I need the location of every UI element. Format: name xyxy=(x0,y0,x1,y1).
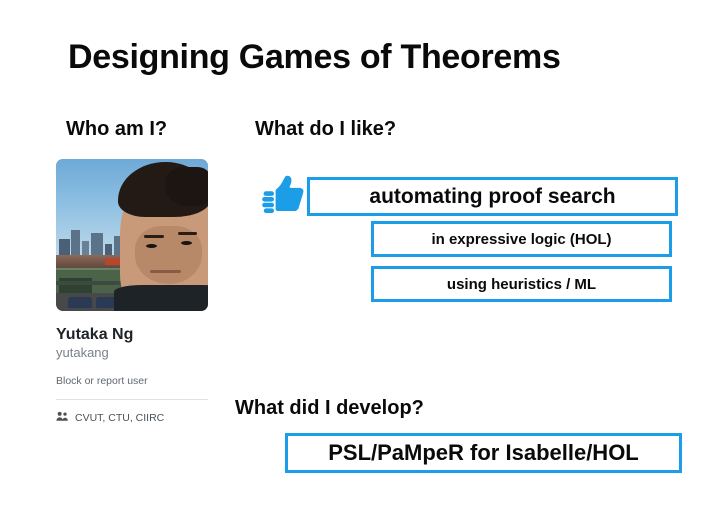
people-icon xyxy=(56,411,69,425)
eyebrow xyxy=(144,235,164,238)
eye xyxy=(146,244,157,248)
jacket xyxy=(114,285,208,311)
avatar xyxy=(56,159,208,311)
eyebrow xyxy=(178,232,198,235)
profile-handle: yutakang xyxy=(56,345,246,361)
divider xyxy=(56,399,208,400)
hair-side xyxy=(165,167,208,207)
page-title: Designing Games of Theorems xyxy=(68,38,561,77)
thumbs-up-icon xyxy=(255,172,307,224)
callout-heuristics-ml[interactable]: using heuristics / ML xyxy=(371,266,672,302)
parked-car xyxy=(68,297,92,308)
section-heading-what-did-i-develop: What did I develop? xyxy=(235,397,424,420)
profile-card: Yutaka Ng yutakang Block or report user … xyxy=(56,159,246,425)
slide-canvas: Designing Games of Theorems Who am I? Wh… xyxy=(0,0,720,510)
block-or-report-user-link[interactable]: Block or report user xyxy=(56,375,246,387)
callout-psl-pamper[interactable]: PSL/PaMpeR for Isabelle/HOL xyxy=(285,433,682,473)
callout-expressive-logic[interactable]: in expressive logic (HOL) xyxy=(371,221,672,257)
profile-organizations-row: CVUT, CTU, CIIRC xyxy=(56,411,246,425)
section-heading-who-am-i: Who am I? xyxy=(66,118,167,141)
section-heading-what-do-i-like: What do I like? xyxy=(255,118,396,141)
profile-name: Yutaka Ng xyxy=(56,326,246,344)
callout-automating-proof-search[interactable]: automating proof search xyxy=(307,177,678,216)
eye xyxy=(181,241,192,245)
profile-organizations-label: CVUT, CTU, CIIRC xyxy=(75,412,164,424)
mouth xyxy=(150,270,180,273)
